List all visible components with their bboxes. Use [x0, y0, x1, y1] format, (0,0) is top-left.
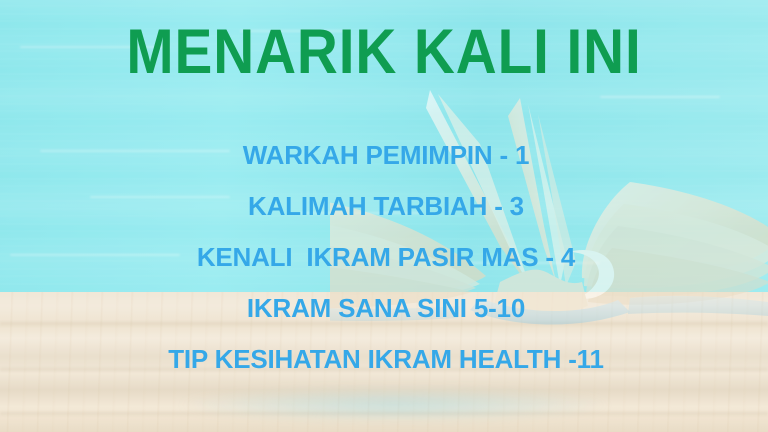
- table-reflection-haze: [180, 388, 610, 422]
- list-item: KENALI IKRAM PASIR MAS - 4: [4, 232, 768, 283]
- contents-list: WARKAH PEMIMPIN - 1 KALIMAH TARBIAH - 3 …: [0, 130, 768, 385]
- list-item: WARKAH PEMIMPIN - 1: [4, 130, 768, 181]
- list-item: IKRAM SANA SINI 5-10: [4, 283, 768, 334]
- page-title: MENARIK KALI INI: [38, 18, 729, 86]
- slide-canvas: MENARIK KALI INI WARKAH PEMIMPIN - 1 KAL…: [0, 0, 768, 432]
- list-item: KALIMAH TARBIAH - 3: [4, 181, 768, 232]
- list-item: TIP KESIHATAN IKRAM HEALTH -11: [4, 334, 768, 385]
